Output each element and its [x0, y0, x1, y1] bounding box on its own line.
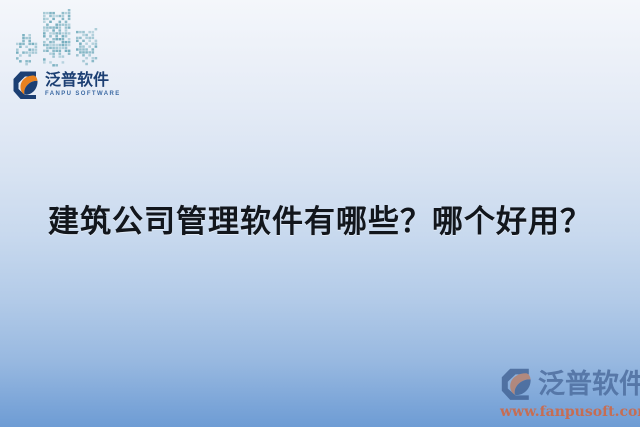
pixel-city-skyline-icon [16, 6, 102, 68]
watermark-name-cn: 泛普软件 [538, 371, 640, 398]
brand-name-en: FANPU SOFTWARE [45, 91, 121, 97]
watermark-url: www.fanpusoft.com [500, 404, 638, 420]
brand-name-cn: 泛普软件 [45, 73, 121, 89]
skyline-svg [16, 6, 102, 68]
watermark-logo-row: 泛普软件 [500, 365, 638, 403]
brand-logo: 泛普软件 FANPU SOFTWARE [12, 68, 110, 102]
poster-canvas: 泛普软件 FANPU SOFTWARE 建筑公司管理软件有哪些？哪个好用？ 泛普… [0, 0, 640, 427]
fanpu-hexagon-swoosh-watermark-icon [500, 367, 536, 401]
page-title: 建筑公司管理软件有哪些？哪个好用？ [0, 196, 640, 241]
brand-wordmark: 泛普软件 FANPU SOFTWARE [45, 73, 121, 97]
site-watermark: 泛普软件 www.fanpusoft.com [500, 365, 638, 423]
fanpu-hexagon-swoosh-logo-icon [12, 70, 42, 100]
